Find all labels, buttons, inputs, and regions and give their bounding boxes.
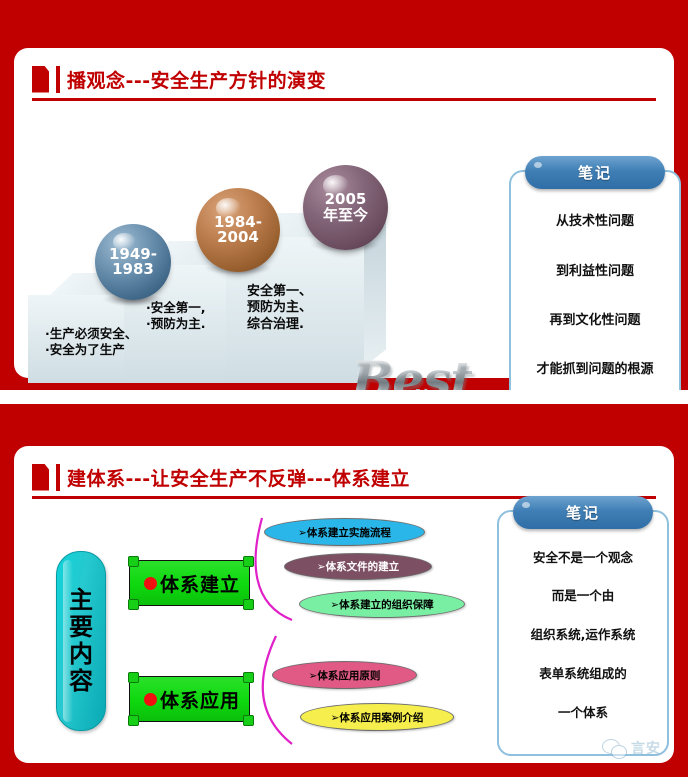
notes-line: 从技术性问题	[556, 215, 634, 229]
capsule-char: 容	[69, 668, 93, 695]
notes-line: 表单系统组成的	[539, 667, 627, 681]
main-content-capsule: 主 要 内 容	[56, 551, 106, 731]
branch-item-implementation-flow[interactable]: ➢体系建立实施流程	[264, 518, 425, 546]
sphere-label-line2: 年至今	[323, 208, 368, 223]
branch-item-label: ➢体系建立实施流程	[298, 525, 391, 540]
title-accent-bar	[56, 66, 60, 93]
branch-item-label: ➢体系应用案例介绍	[331, 710, 424, 725]
notes-panel-slide-1: 笔记 从技术性问题 到利益性问题 再到文化性问题 才能抓到问题的根源 言安	[509, 170, 681, 419]
watermark-label: 言安	[631, 738, 661, 758]
caption-line: 安全第一、	[247, 284, 312, 300]
stair-caption-1: ·生产必须安全、 ·安全为了生产	[45, 326, 137, 357]
page-title: 播观念---安全生产方针的演变	[67, 66, 326, 93]
notes-line: 再到文化性问题	[549, 314, 640, 328]
notes-body: 从技术性问题 到利益性问题 再到文化性问题 才能抓到问题的根源	[517, 198, 673, 395]
notes-body: 安全不是一个观念 而是一个由 组织系统,运作系统 表单系统组成的 一个体系	[505, 538, 661, 732]
capsule-char: 主	[69, 587, 93, 614]
watermark-slide-2: 言安	[602, 738, 661, 758]
branch-item-label: ➢体系文件的建立	[317, 559, 399, 574]
notes-heading-label: 笔记	[578, 162, 612, 183]
branch-item-organization[interactable]: ➢体系建立的组织保障	[299, 590, 465, 618]
branch-banner-label: 体系应用	[160, 686, 240, 713]
slide-2-title-row: 建体系---让安全生产不反弹---体系建立	[32, 460, 656, 494]
stair-caption-3: 安全第一、 预防为主、 综合治理.	[247, 284, 312, 333]
caption-line: ·安全第一,	[146, 300, 206, 316]
page-title: 建体系---让安全生产不反弹---体系建立	[67, 464, 410, 491]
branch-item-label: ➢体系应用原则	[309, 668, 381, 683]
caption-line: ·预防为主.	[146, 316, 206, 332]
title-underline	[32, 98, 656, 101]
branch-item-documents[interactable]: ➢体系文件的建立	[284, 553, 432, 580]
caption-line: ·生产必须安全、	[45, 326, 137, 342]
red-dot-icon	[144, 577, 157, 590]
notes-line: 到利益性问题	[556, 265, 634, 279]
branch-banner-label: 体系建立	[160, 570, 240, 597]
branch-item-label: ➢体系建立的组织保障	[330, 597, 433, 612]
capsule-char: 要	[69, 614, 93, 641]
slide-separator	[0, 390, 688, 404]
slide-1-title-row: 播观念---安全生产方针的演变	[32, 62, 656, 96]
branch-banner-build[interactable]: 体系建立	[129, 560, 250, 606]
caption-line: 综合治理.	[247, 317, 312, 333]
caption-line: ·安全为了生产	[45, 342, 137, 358]
slide-1-canvas: 播观念---安全生产方针的演变	[14, 48, 674, 378]
notes-panel-slide-2: 笔记 安全不是一个观念 而是一个由 组织系统,运作系统 表单系统组成的 一个体系…	[497, 510, 669, 756]
flag-icon	[32, 66, 49, 93]
era-sphere-2005-present: 2005 年至今	[303, 165, 388, 250]
stair-caption-2: ·安全第一, ·预防为主.	[146, 300, 206, 331]
notes-heading-label: 笔记	[566, 502, 600, 523]
red-dot-icon	[144, 693, 157, 706]
notes-line: 组织系统,运作系统	[531, 628, 636, 642]
notes-heading-pill: 笔记	[525, 156, 665, 189]
sphere-label-line2: 2004	[217, 230, 259, 245]
era-sphere-1984-2004: 1984- 2004	[196, 188, 280, 272]
notes-heading-pill: 笔记	[513, 496, 653, 529]
sphere-label-line2: 1983	[112, 262, 154, 277]
branch-item-case-study[interactable]: ➢体系应用案例介绍	[300, 703, 454, 731]
title-accent-bar	[56, 464, 60, 491]
notes-line: 一个体系	[558, 706, 608, 720]
wechat-icon	[602, 739, 628, 758]
branch-item-principles[interactable]: ➢体系应用原则	[272, 661, 417, 689]
notes-line: 安全不是一个观念	[533, 551, 633, 565]
notes-line: 而是一个由	[552, 589, 615, 603]
notes-line: 才能抓到问题的根源	[536, 363, 653, 377]
era-sphere-1949-1983: 1949- 1983	[95, 224, 171, 300]
capsule-char: 内	[69, 641, 93, 668]
caption-line: 预防为主、	[247, 300, 312, 316]
slide-1: 播观念---安全生产方针的演变	[0, 0, 688, 390]
flag-icon	[32, 464, 49, 491]
branch-banner-apply[interactable]: 体系应用	[129, 676, 250, 722]
slide-deck: 播观念---安全生产方针的演变	[0, 0, 688, 777]
